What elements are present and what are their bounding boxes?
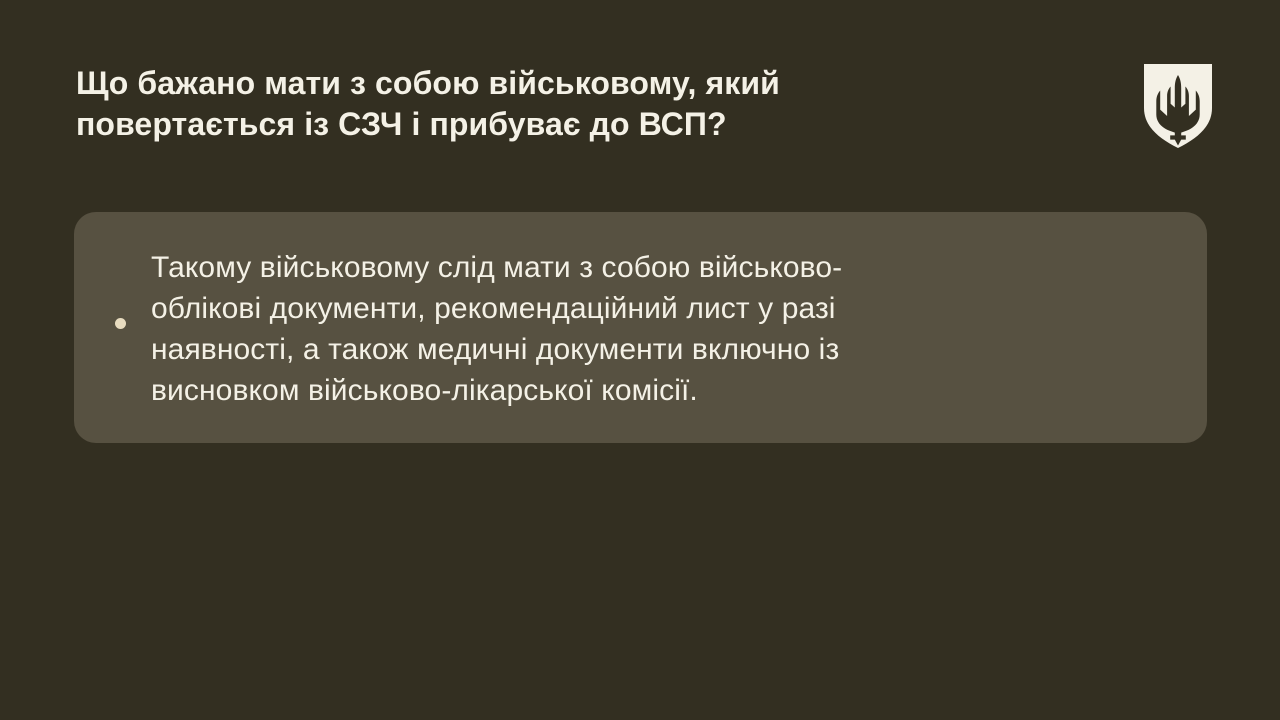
page-title: Що бажано мати з собою військовому, який… xyxy=(76,63,1086,145)
slide-header: Що бажано мати з собою військовому, який… xyxy=(0,0,1280,200)
bullet-dot-icon xyxy=(115,318,126,329)
answer-text: Такому військовому слід мати з собою вій… xyxy=(151,247,1161,411)
ukrainian-armed-forces-shield-trident-emblem xyxy=(1144,64,1212,148)
answer-card: Такому військовому слід мати з собою вій… xyxy=(74,212,1207,443)
slide-root: Що бажано мати з собою військовому, який… xyxy=(0,0,1280,720)
